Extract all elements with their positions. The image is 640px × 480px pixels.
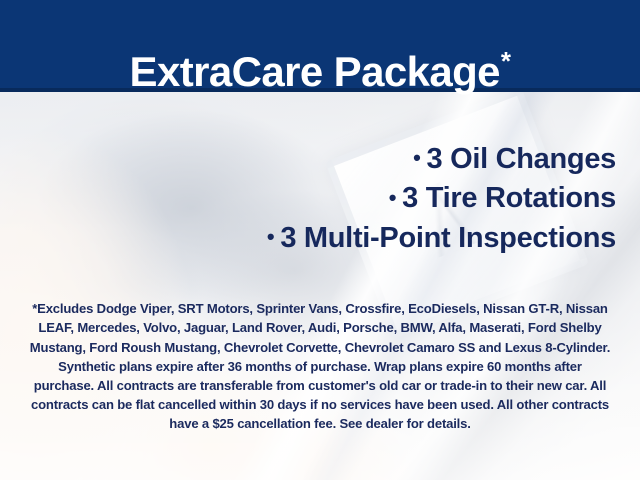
benefit-item-label: 3 Tire Rotations <box>402 182 616 214</box>
benefit-item-multi-point-inspections: •3 Multi-Point Inspections <box>0 219 616 258</box>
benefit-item-label: 3 Multi-Point Inspections <box>280 222 616 254</box>
benefit-item-label: 3 Oil Changes <box>427 143 617 175</box>
bullet-icon: • <box>267 224 274 249</box>
benefit-item-oil-changes: •3 Oil Changes <box>0 140 616 179</box>
extracare-package-ad: ExtraCare Package* •3 Oil Changes •3 Tir… <box>0 0 640 480</box>
benefit-item-tire-rotations: •3 Tire Rotations <box>0 179 616 218</box>
bullet-icon: • <box>389 185 396 210</box>
bullet-icon: • <box>413 145 420 170</box>
page-title-text: ExtraCare Package <box>130 48 500 96</box>
page-title: ExtraCare Package* <box>0 28 640 116</box>
benefits-list: •3 Oil Changes •3 Tire Rotations •3 Mult… <box>0 140 640 258</box>
ad-content: •3 Oil Changes •3 Tire Rotations •3 Mult… <box>0 92 640 480</box>
disclaimer-text: *Excludes Dodge Viper, SRT Motors, Sprin… <box>28 299 612 433</box>
